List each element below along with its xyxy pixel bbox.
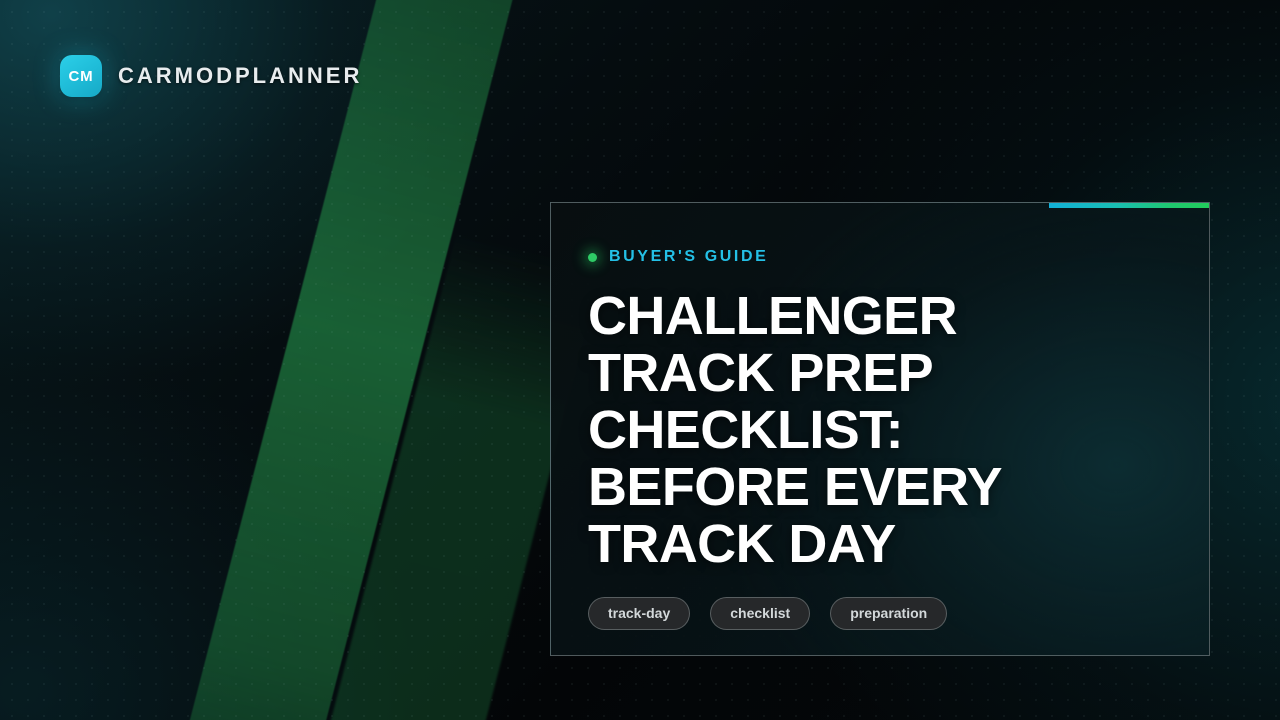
card-eyebrow: BUYER'S GUIDE [588, 248, 1171, 266]
tag-chip[interactable]: checklist [710, 597, 810, 630]
tag-chip[interactable]: track-day [588, 597, 690, 630]
card-category-label: BUYER'S GUIDE [609, 248, 768, 266]
brand-logo-initials: CM [69, 68, 94, 85]
tag-chip[interactable]: preparation [830, 597, 947, 630]
status-dot-icon [588, 253, 597, 262]
diagonal-stripe-decoration [132, 0, 560, 720]
card-tag-list: track-day checklist preparation [588, 597, 1171, 630]
brand-logo-icon: CM [60, 55, 102, 97]
article-card: BUYER'S GUIDE CHALLENGER TRACK PREP CHEC… [550, 202, 1210, 656]
brand-name: CARMODPLANNER [118, 63, 362, 89]
page-canvas: CM CARMODPLANNER BUYER'S GUIDE CHALLENGE… [0, 0, 1280, 720]
card-content: BUYER'S GUIDE CHALLENGER TRACK PREP CHEC… [551, 203, 1209, 655]
brand-header[interactable]: CM CARMODPLANNER [60, 55, 362, 97]
card-title: CHALLENGER TRACK PREP CHECKLIST: BEFORE … [588, 288, 1078, 573]
